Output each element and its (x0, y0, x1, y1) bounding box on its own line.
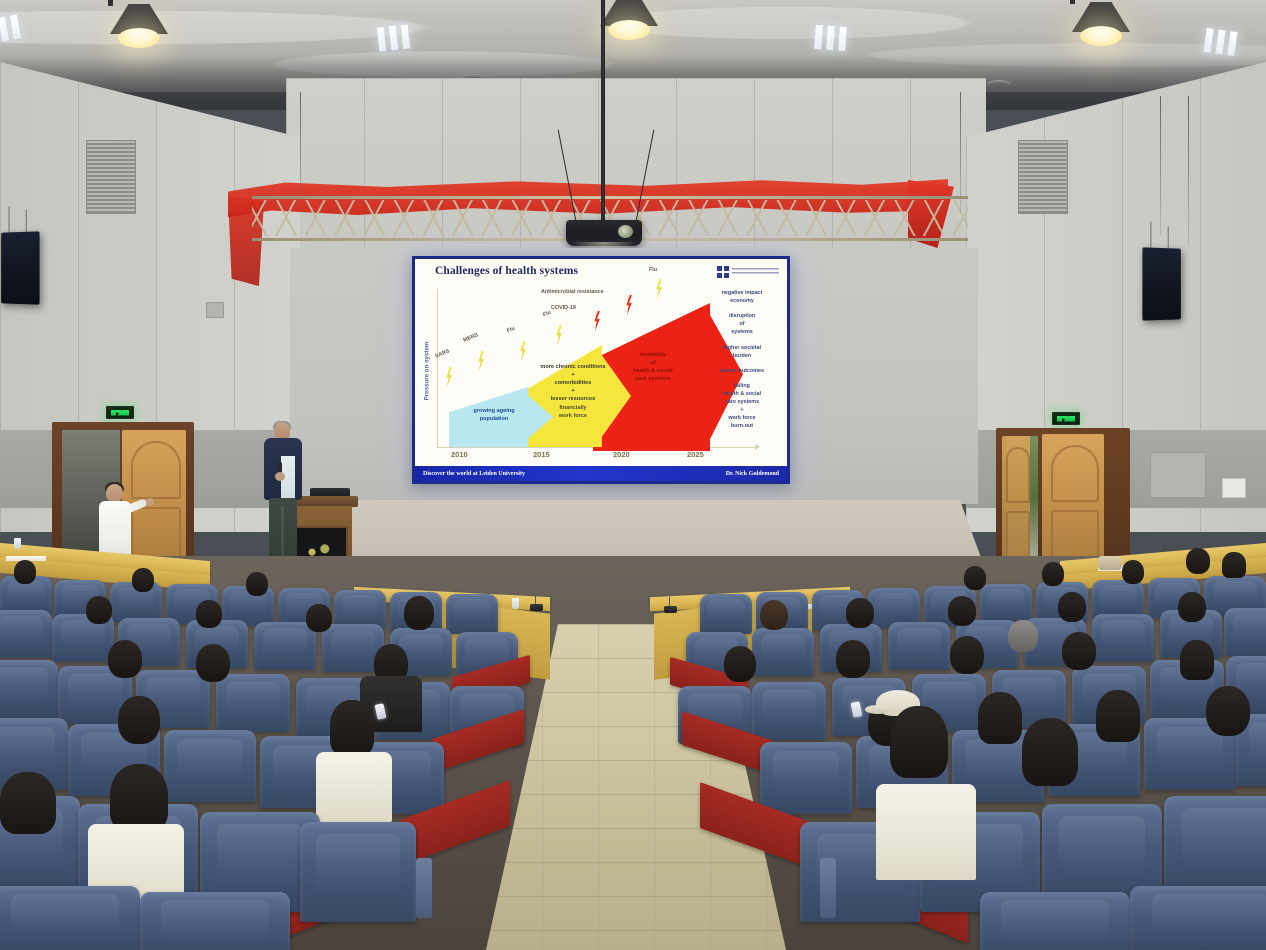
head (306, 604, 332, 632)
head (978, 692, 1022, 744)
recessed-ceiling-light (988, 80, 1010, 87)
wall-control-box[interactable] (206, 302, 224, 318)
seat[interactable] (1092, 614, 1154, 662)
audience-member (1222, 552, 1246, 578)
lightning-bolt-icon-flu1 (519, 341, 527, 361)
lightning-bolt-icon-amr (625, 295, 633, 315)
exit-sign-icon (111, 410, 129, 416)
rigging-wire (960, 92, 961, 212)
handbag (1098, 556, 1122, 570)
bolt-label-mers: MERS (462, 332, 479, 343)
head (110, 764, 168, 832)
seat[interactable] (1130, 886, 1266, 950)
slide-footer-left: Discover the world at Leiden University (423, 471, 525, 477)
strip-light (814, 25, 847, 51)
audience-member (964, 566, 986, 590)
speaker-wire (1168, 226, 1169, 248)
head (1096, 690, 1140, 742)
audience-member (1058, 592, 1086, 622)
audience-torso (316, 752, 392, 822)
seat[interactable] (446, 594, 498, 634)
lightning-bolt-icon-flu3 (655, 279, 663, 299)
audience-member (0, 772, 56, 834)
desk-microphone[interactable] (664, 606, 677, 613)
seat[interactable] (164, 730, 256, 802)
audience-member (1206, 686, 1250, 736)
x-axis-ticks: 2010 2015 2020 2025 (437, 450, 767, 464)
audience-member (86, 596, 112, 624)
rigging-wire (1160, 96, 1161, 236)
slide-footer-right: Dr. Nick Guldemond (726, 471, 779, 477)
head (196, 600, 222, 628)
audience-member (978, 692, 1022, 744)
lamp-bulb (118, 28, 160, 48)
wall-panel-box (1150, 452, 1206, 498)
rigging-wire (300, 92, 301, 212)
head (890, 706, 948, 778)
head (846, 598, 874, 628)
seat[interactable] (0, 610, 52, 658)
lamp-stem (1070, 0, 1075, 4)
presenter-legs (269, 498, 297, 560)
air-vent (86, 140, 136, 214)
head (108, 640, 142, 678)
head (724, 646, 756, 682)
x-tick-2010: 2010 (451, 450, 468, 459)
head (1122, 560, 1144, 584)
head (1058, 592, 1086, 622)
lamp-stem (108, 0, 113, 6)
ceiling-projector (566, 220, 642, 246)
seat[interactable] (980, 584, 1032, 624)
audience-member (846, 598, 874, 628)
air-vent (1018, 140, 1068, 214)
audience-member (1022, 718, 1078, 786)
head (760, 600, 788, 630)
lightning-bolt-icon-mers (477, 351, 485, 371)
auditorium-photo: Challenges of health systems Pressure on… (0, 0, 1266, 950)
seat[interactable] (0, 886, 140, 950)
audience-member (724, 646, 756, 682)
audience-member (330, 700, 374, 756)
seat[interactable] (216, 674, 290, 732)
head (1222, 552, 1246, 578)
consequence-1: negative impact economy (703, 289, 781, 305)
seat[interactable] (1224, 608, 1266, 656)
speaker-wire (1150, 221, 1151, 247)
door-right-leaf[interactable] (1042, 434, 1104, 574)
presenter-blazer (264, 438, 302, 500)
lamp-bulb (608, 20, 650, 40)
head (836, 640, 870, 678)
speaker-wire (9, 207, 10, 233)
head (1178, 592, 1206, 622)
seat[interactable] (752, 628, 814, 676)
head (132, 568, 154, 592)
audience-member (110, 764, 168, 832)
bolt-label-amr: Antimicrobial resistance (541, 289, 604, 295)
lightning-bolt-icon-sars (445, 367, 453, 387)
audience-torso (876, 784, 976, 880)
seat[interactable] (300, 822, 416, 922)
consequence-3: higher societal burden (703, 344, 781, 360)
seat[interactable] (1164, 796, 1266, 896)
audience-member (196, 600, 222, 628)
head (1186, 548, 1210, 574)
audience-member (1186, 548, 1210, 574)
head (1180, 640, 1214, 680)
head (14, 560, 36, 584)
audience-member (404, 596, 434, 630)
audience-member (14, 560, 36, 584)
audience-member (118, 696, 160, 744)
presenter-hand (275, 472, 285, 481)
armrest (416, 858, 432, 918)
bolt-label-flu3: Flu (649, 267, 657, 273)
head (246, 572, 268, 596)
desk-microphone[interactable] (530, 604, 543, 611)
head (948, 596, 976, 626)
x-tick-2015: 2015 (533, 450, 550, 459)
exit-sign-right (1052, 412, 1080, 425)
audience-member (132, 568, 154, 592)
head (1022, 718, 1078, 786)
seat[interactable] (752, 682, 826, 740)
logo-mark-icon (717, 266, 729, 278)
slide-footer: Discover the world at Leiden University … (415, 466, 787, 481)
slide: Challenges of health systems Pressure on… (415, 259, 787, 481)
bolt-label-covid: COVID-19 (551, 305, 576, 311)
slide-title: Challenges of health systems (435, 265, 578, 277)
audience-member (760, 600, 788, 630)
audience-member (948, 596, 976, 626)
x-tick-2025: 2025 (687, 450, 704, 459)
head (964, 566, 986, 590)
armrest (820, 858, 836, 918)
seat[interactable] (980, 892, 1130, 950)
presenter (258, 422, 308, 574)
head (1206, 686, 1250, 736)
head (330, 700, 374, 756)
head (1062, 632, 1096, 670)
attendee-hand (146, 498, 154, 506)
y-axis-line (437, 289, 438, 447)
strip-light (1203, 28, 1237, 56)
cup (512, 598, 519, 609)
head (86, 596, 112, 624)
audience-member (1042, 562, 1064, 586)
seat[interactable] (700, 594, 752, 634)
audience-member (306, 604, 332, 632)
seat[interactable] (0, 660, 58, 718)
audience-member (950, 636, 984, 674)
lightning-bolt-icon-covid (593, 311, 601, 331)
wall-speaker-right (1142, 247, 1180, 320)
audience-member (196, 644, 230, 682)
audience-member (246, 572, 268, 596)
head (1042, 562, 1064, 586)
wall-speaker-left (1, 231, 39, 304)
attendee-arm (125, 498, 148, 514)
audience-member (1122, 560, 1144, 584)
speaker-wire (26, 210, 27, 232)
seat[interactable] (760, 742, 852, 814)
leiden-university-logo (717, 265, 779, 278)
logo-wordmark (732, 268, 779, 276)
seat[interactable] (140, 892, 290, 950)
projector-lens (618, 225, 633, 238)
projection-screen: Challenges of health systems Pressure on… (412, 256, 790, 484)
x-tick-2020: 2020 (613, 450, 630, 459)
audience-member (1062, 632, 1096, 670)
head (404, 596, 434, 630)
consequence-5: failing health & social care systems + w… (703, 382, 781, 431)
head (950, 636, 984, 674)
audience-member (1178, 592, 1206, 622)
seat[interactable] (888, 622, 950, 670)
consequence-2: disruption of systems (703, 312, 781, 336)
y-axis-label-text: Pressure on system (424, 342, 431, 401)
head (196, 644, 230, 682)
projector-brace (560, 128, 652, 224)
head (118, 696, 160, 744)
head (0, 772, 56, 834)
consequence-4: poorer outcomes (703, 367, 781, 375)
wall-notice (1222, 478, 1246, 498)
audience-member (1096, 690, 1140, 742)
exit-sign-icon (1057, 416, 1075, 422)
lightning-bolt-icon-flu2 (555, 325, 563, 345)
cup (14, 538, 21, 549)
rigging-wire (1188, 96, 1189, 246)
audience-member (1008, 620, 1038, 652)
y-axis-label: Pressure on system (421, 311, 433, 431)
audience-member (108, 640, 142, 678)
bolt-label-flu1: Flu (506, 326, 516, 335)
door-right-leaf-open[interactable] (1002, 436, 1030, 574)
audience-member (890, 706, 948, 778)
lamp-bulb (1080, 26, 1122, 46)
audience-member (836, 640, 870, 678)
consequences-list: negative impact economy disruption of sy… (703, 289, 781, 438)
audience-member (1180, 640, 1214, 680)
strip-light (377, 24, 410, 51)
head (1008, 620, 1038, 652)
exit-sign-left (106, 406, 134, 419)
